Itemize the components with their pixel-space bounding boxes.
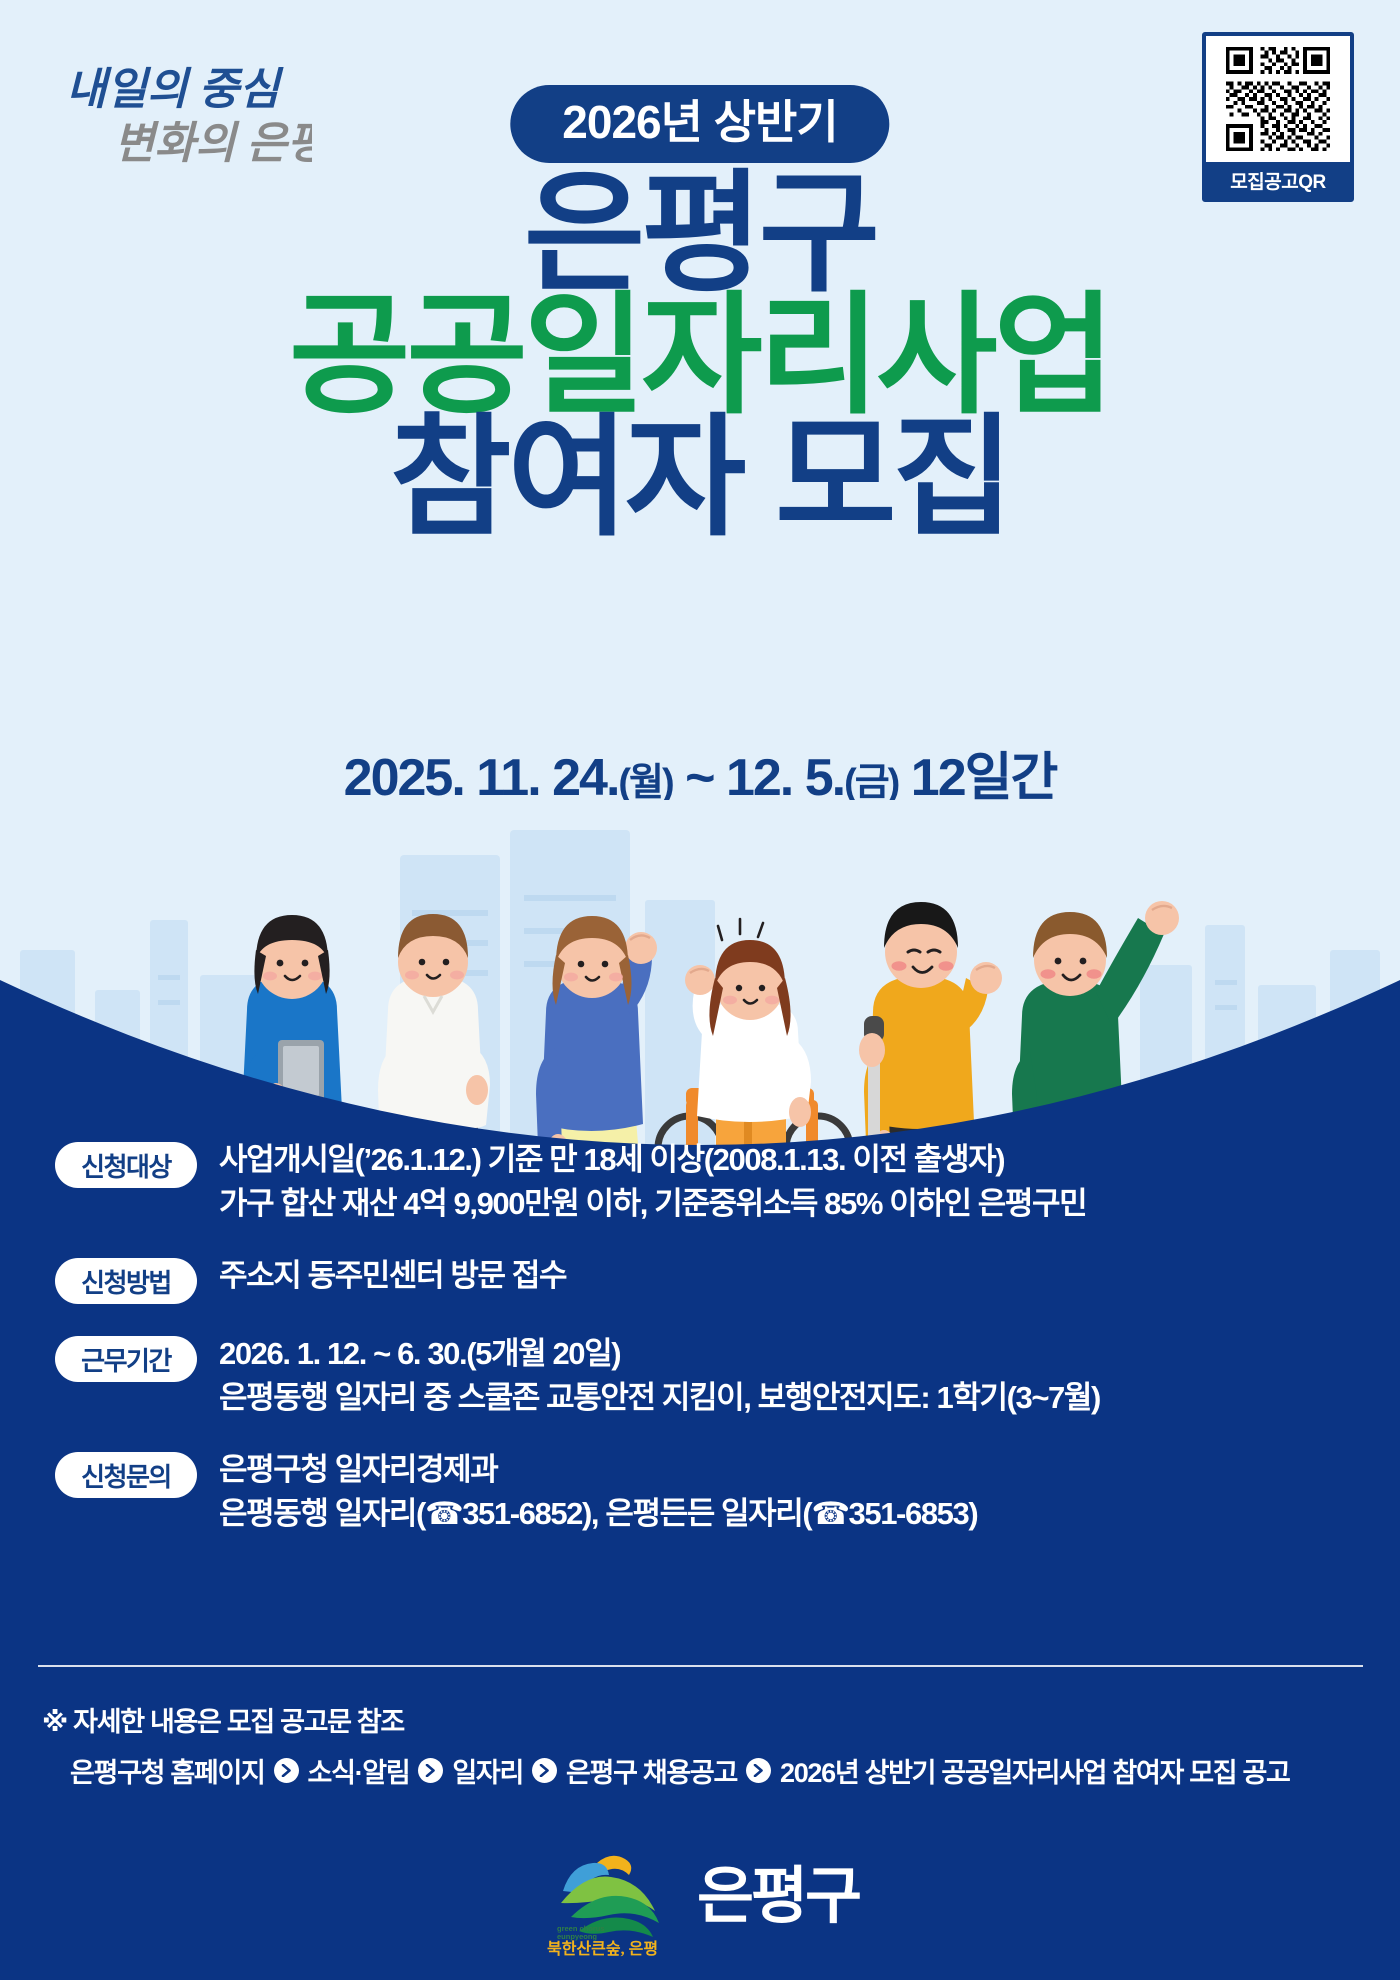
badge-apply-method: 신청방법 <box>55 1258 197 1304</box>
title-line-2: 공공일자리사업 <box>0 292 1400 420</box>
contact-line-2: 은평동행 일자리(☎351-6852), 은평든든 일자리(☎351-6853) <box>219 1492 977 1536</box>
eligibility-line-2: 가구 합산 재산 4억 9,900만원 이하, 기준중위소득 85% 이하인 은… <box>219 1182 1086 1226</box>
breadcrumb-item-2[interactable]: 일자리 <box>452 1751 523 1790</box>
contact-line-1: 은평구청 일자리경제과 <box>219 1448 977 1492</box>
poster-title-block: 은평구 공공일자리사업 참여자 모집 <box>0 170 1400 542</box>
eunpyeong-emblem-icon: green chorus eunpyeong 북한산큰숲, 은평 green c… <box>541 1845 671 1957</box>
title-line-1: 은평구 <box>0 170 1400 298</box>
badge-eligibility: 신청대상 <box>55 1142 197 1188</box>
info-text-work-period: 2026. 1. 12. ~ 6. 30.(5개월 20일) 은평동행 일자리 … <box>219 1332 1100 1420</box>
qr-code-image[interactable] <box>1206 36 1350 162</box>
footnote-line-1: ※ 자세한 내용은 모집 공고문 참조 <box>42 1700 1372 1739</box>
period-tilde: ~ <box>673 749 726 807</box>
eligibility-line-1: 사업개시일(’26.1.12.) 기준 만 18세 이상(2008.1.13. … <box>219 1138 1086 1182</box>
info-text-apply-method: 주소지 동주민센터 방문 접수 <box>219 1254 566 1298</box>
breadcrumb-item-1[interactable]: 소식·알림 <box>308 1751 410 1790</box>
emblem-en-line2: eunpyeong <box>557 1932 597 1941</box>
info-row-apply-method: 신청방법 주소지 동주민센터 방문 접수 <box>55 1254 1355 1304</box>
info-list: 신청대상 사업개시일(’26.1.12.) 기준 만 18세 이상(2008.1… <box>55 1138 1355 1564</box>
footnote-breadcrumb: 은평구청 홈페이지 소식·알림 일자리 은평구 채용공고 2026년 상반기 공… <box>42 1751 1372 1790</box>
info-text-eligibility: 사업개시일(’26.1.12.) 기준 만 18세 이상(2008.1.13. … <box>219 1138 1086 1226</box>
period-end-date: 12. 5. <box>726 749 844 807</box>
apply-method-line-1: 주소지 동주민센터 방문 접수 <box>219 1254 566 1298</box>
info-row-work-period: 근무기간 2026. 1. 12. ~ 6. 30.(5개월 20일) 은평동행… <box>55 1332 1355 1420</box>
footer-logo-block: green chorus eunpyeong 북한산큰숲, 은평 green c… <box>0 1845 1400 1957</box>
eunpyeong-slogan-logo: 내일의 중심 변화의 은평 내일의 중심 변화의 은평 <box>62 52 312 172</box>
period-start-date: 2025. 11. 24. <box>344 749 619 807</box>
work-period-line-2: 은평동행 일자리 중 스쿨존 교통안전 지킴이, 보행안전지도: 1학기(3~7… <box>219 1376 1100 1420</box>
period-end-day: (금) <box>844 762 898 804</box>
info-row-contact: 신청문의 은평구청 일자리경제과 은평동행 일자리(☎351-6852), 은평… <box>55 1448 1355 1536</box>
slogan-line2-text: 변화의 은평 <box>114 119 312 168</box>
emblem-kr-text: 북한산큰숲, 은평 <box>547 1939 658 1957</box>
footer-org-name: 은평구 <box>697 1866 859 1936</box>
period-duration: 12일간 <box>898 749 1056 807</box>
footnote-block: ※ 자세한 내용은 모집 공고문 참조 은평구청 홈페이지 소식·알림 일자리 … <box>42 1700 1372 1790</box>
badge-contact: 신청문의 <box>55 1452 197 1498</box>
title-line-3: 참여자 모집 <box>0 414 1400 542</box>
info-text-contact: 은평구청 일자리경제과 은평동행 일자리(☎351-6852), 은평든든 일자… <box>219 1448 977 1536</box>
poster-bottom-section: 신청대상 사업개시일(’26.1.12.) 기준 만 18세 이상(2008.1… <box>0 1110 1400 1980</box>
poster-top-section: 내일의 중심 변화의 은평 내일의 중심 변화의 은평 <box>0 0 1400 1150</box>
chevron-right-icon <box>532 1758 557 1783</box>
chevron-right-icon <box>418 1758 443 1783</box>
recruitment-period: 2025. 11. 24.(월) ~ 12. 5.(금) 12일간 <box>0 735 1400 810</box>
section-divider <box>38 1665 1363 1667</box>
breadcrumb-item-4[interactable]: 2026년 상반기 공공일자리사업 참여자 모집 공고 <box>780 1751 1290 1790</box>
chevron-right-icon <box>746 1758 771 1783</box>
info-row-eligibility: 신청대상 사업개시일(’26.1.12.) 기준 만 18세 이상(2008.1… <box>55 1138 1355 1226</box>
badge-work-period: 근무기간 <box>55 1336 197 1382</box>
period-start-day: (월) <box>618 762 672 804</box>
breadcrumb-item-0[interactable]: 은평구청 홈페이지 <box>70 1751 265 1790</box>
slogan-line1-text: 내일의 중심 <box>66 65 284 114</box>
poster-canvas: 내일의 중심 변화의 은평 내일의 중심 변화의 은평 <box>0 0 1400 1980</box>
breadcrumb-item-3[interactable]: 은평구 채용공고 <box>566 1751 737 1790</box>
chevron-right-icon <box>274 1758 299 1783</box>
work-period-line-1: 2026. 1. 12. ~ 6. 30.(5개월 20일) <box>219 1332 1100 1376</box>
header-period-pill: 2026년 상반기 <box>510 85 889 163</box>
